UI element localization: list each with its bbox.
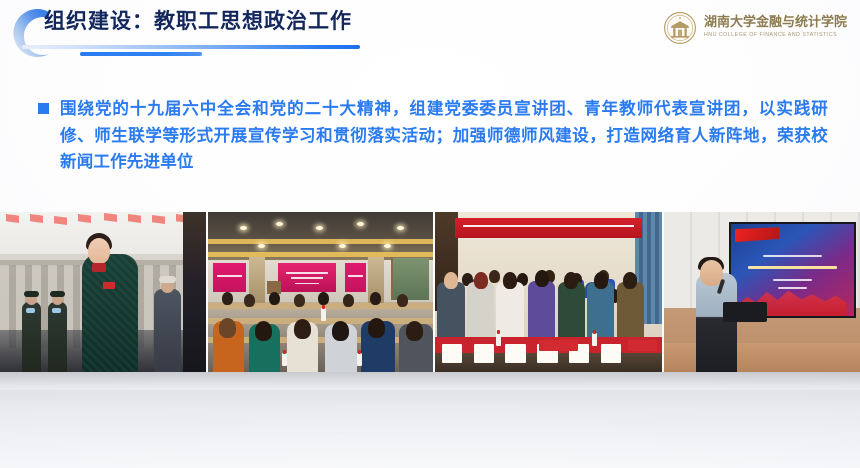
photo-strip	[0, 212, 860, 372]
slide-floor-glow	[0, 390, 860, 468]
photo-group-banner	[435, 212, 662, 372]
institution-logo: 湖南大学金融与统计学院 HNU COLLEGE OF FINANCE AND S…	[663, 10, 847, 46]
photo-great-hall-delegate	[0, 212, 206, 372]
title-underline-secondary	[80, 52, 202, 56]
institution-name-en: HNU COLLEGE OF FINANCE AND STATISTICS	[704, 32, 847, 39]
slide-root: 组织建设：教职工思想政治工作 湖南大	[0, 0, 860, 468]
institution-logo-text: 湖南大学金融与统计学院 HNU COLLEGE OF FINANCE AND S…	[704, 16, 847, 39]
page-title-text: 组织建设：教职工思想政治工作	[44, 11, 352, 32]
institution-name-cn: 湖南大学金融与统计学院	[704, 16, 847, 31]
title-underline	[22, 45, 442, 59]
photo-lecture-hall-audience	[208, 212, 433, 372]
slide-header: 组织建设：教职工思想政治工作 湖南大	[0, 0, 860, 62]
page-title: 组织建设：教职工思想政治工作	[44, 11, 352, 32]
hnu-yuelu-gate-seal-icon	[663, 11, 697, 45]
body-text: 围绕党的十九届六中全会和党的二十大精神，组建党委委员宣讲团、青年教师代表宣讲团，…	[60, 96, 828, 176]
body-bullet-item: 围绕党的十九届六中全会和党的二十大精神，组建党委委员宣讲团、青年教师代表宣讲团，…	[38, 96, 828, 176]
title-underline-primary	[22, 45, 360, 49]
photo-speaker-podium	[664, 212, 860, 372]
blue-square-bullet-icon	[38, 103, 49, 114]
